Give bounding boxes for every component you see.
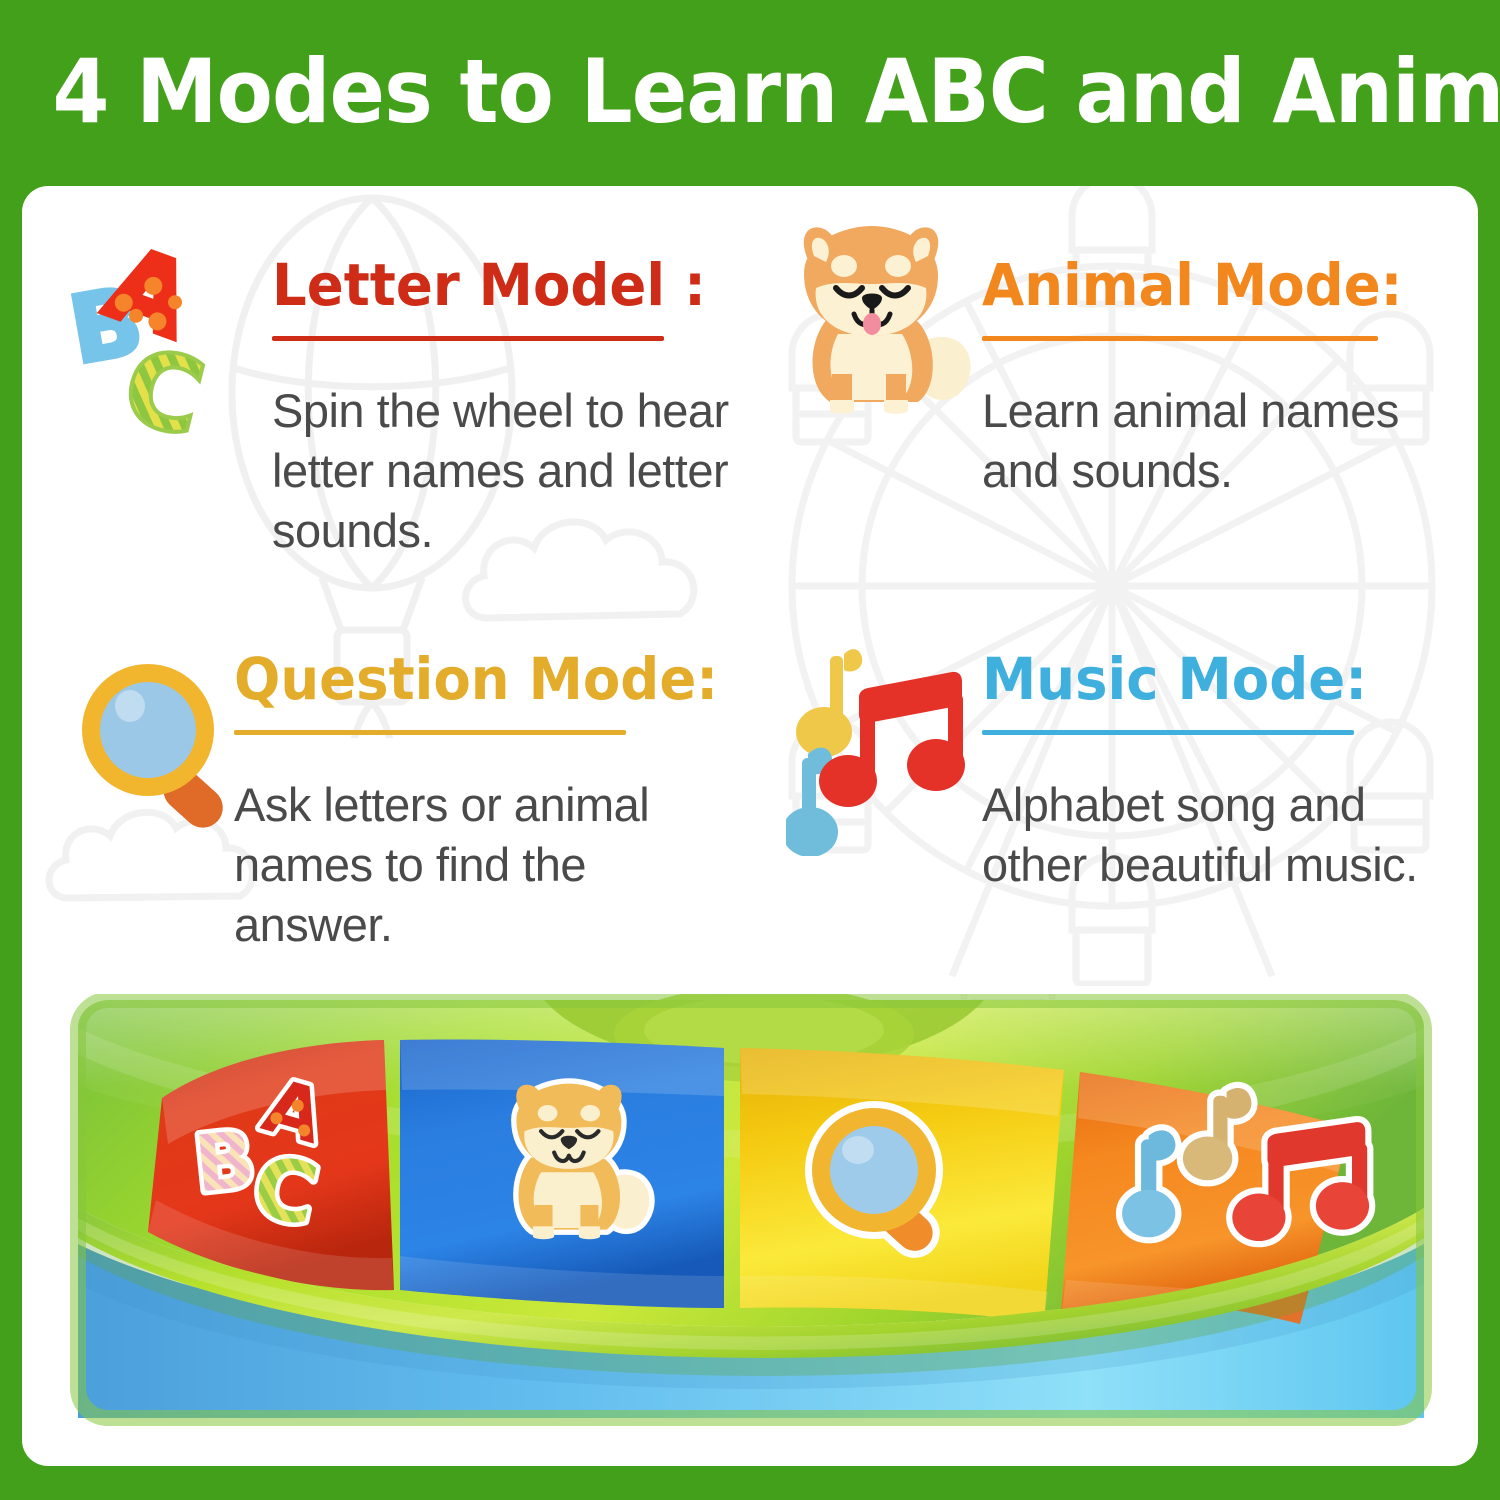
mode-body: Alphabet song and other beautiful music. [982,775,1442,895]
mode-body: Spin the wheel to hear letter names and … [272,381,732,561]
mode-card-music: Music Mode: Alphabet song and other beau… [750,596,1478,1006]
mode-text-letter: Letter Model : Spin the wheel to hear le… [272,256,732,561]
abc-letters-icon: B A C [60,238,270,458]
mode-text-music: Music Mode: Alphabet song and other beau… [982,650,1442,895]
page-root: 4 Modes to Learn ABC and Animals [0,0,1500,1500]
product-button-animal [400,1039,724,1308]
page-title: 4 Modes to Learn ABC and Animals [53,40,1448,143]
mode-divider [982,336,1378,341]
mode-body: Ask letters or animal names to find the … [234,775,694,955]
product-button-question [740,1048,1064,1322]
mode-divider [272,336,664,341]
mode-card-question: Question Mode: Ask letters or animal nam… [22,596,750,1006]
product-photo-illustration: A B C [64,994,1438,1426]
features-card: B A C [22,186,1478,1466]
mode-text-question: Question Mode: Ask letters or animal nam… [234,650,694,955]
mode-divider [234,730,626,735]
mode-text-animal: Animal Mode: Learn animal names and soun… [982,256,1442,501]
shiba-dog-icon [768,222,978,442]
modes-grid: B A C [22,186,1478,1006]
mode-divider [982,730,1354,735]
mode-card-animal: Animal Mode: Learn animal names and soun… [750,186,1478,596]
mode-heading: Music Mode: [982,650,1414,708]
svg-text:B: B [190,1115,259,1211]
music-notes-icon [786,636,996,856]
product-photo: A B C [64,994,1438,1426]
mode-body: Learn animal names and sounds. [982,381,1442,501]
mode-heading: Question Mode: [234,650,666,708]
mode-heading: Animal Mode: [982,256,1414,314]
mode-card-letter: B A C [22,186,750,596]
mode-heading: Letter Model : [272,256,704,314]
